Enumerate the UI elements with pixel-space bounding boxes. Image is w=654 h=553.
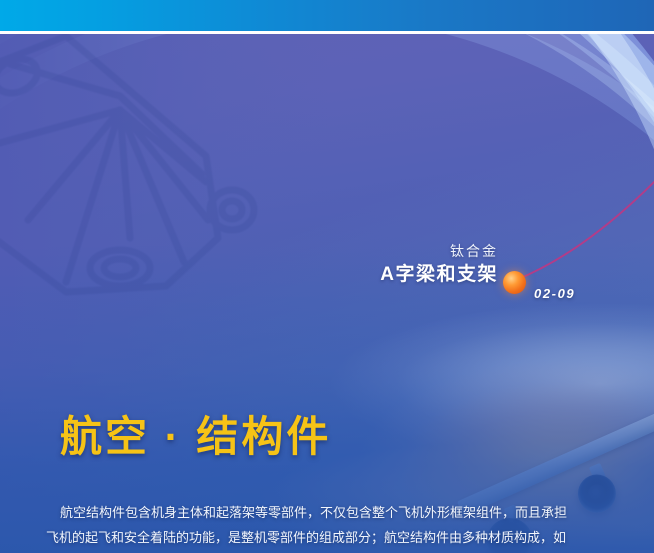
part-callout: 钛合金 A字梁和支架	[248, 242, 498, 288]
body-paragraph-text: 航空结构件包含机身主体和起落架等零部件，不仅包含整个飞机外形框架组件，而且承担飞…	[46, 500, 574, 553]
page-title: 航空 · 结构件	[60, 403, 331, 464]
hero-area: 钛合金 A字梁和支架 02-09 航空 · 结构件 航空结构件包含机身主体和起落…	[0, 34, 654, 553]
callout-part-name: A字梁和支架	[248, 262, 498, 288]
slide-canvas: 钛合金 A字梁和支架 02-09 航空 · 结构件 航空结构件包含机身主体和起落…	[0, 0, 654, 553]
top-accent-bar	[0, 0, 654, 31]
body-paragraph: 航空结构件包含机身主体和起落架等零部件，不仅包含整个飞机外形框架组件，而且承担飞…	[46, 500, 574, 553]
callout-material-label: 钛合金	[248, 242, 498, 261]
callout-code-label: 02-09	[534, 286, 575, 301]
callout-marker-dot[interactable]	[503, 271, 526, 294]
